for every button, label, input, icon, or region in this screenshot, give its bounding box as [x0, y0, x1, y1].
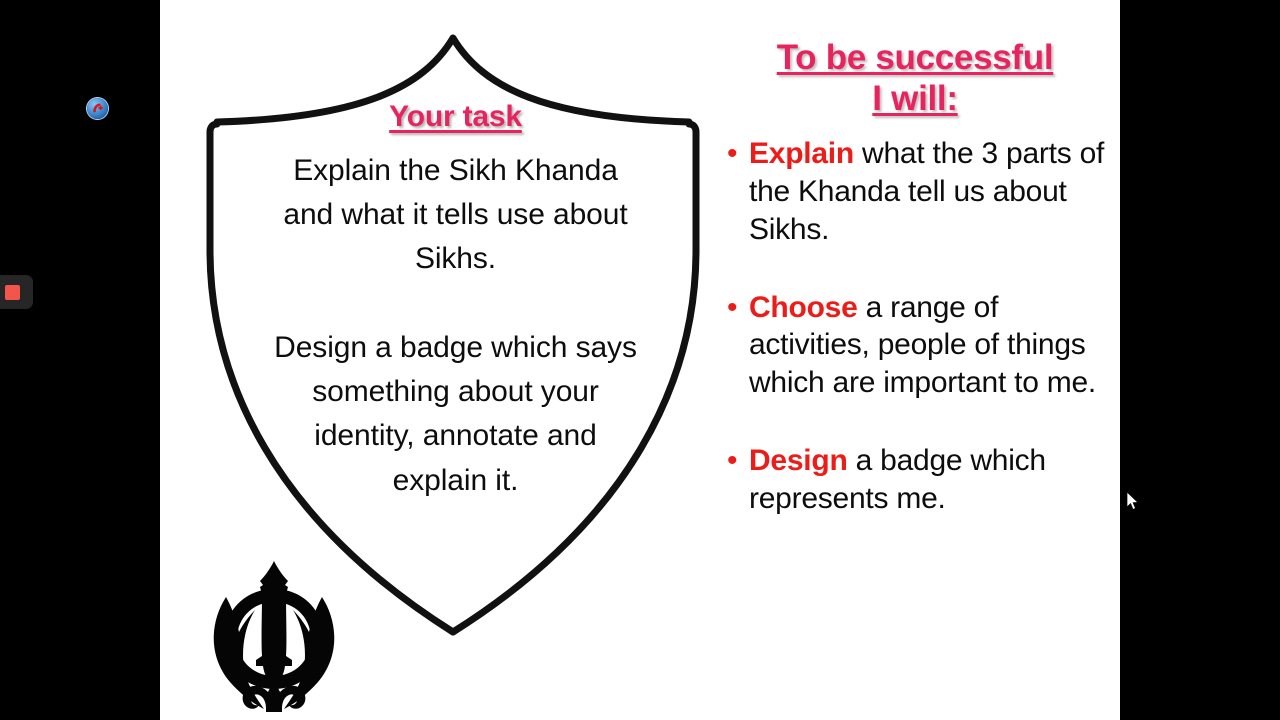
criteria-item-verb: Choose: [749, 291, 858, 324]
slide-canvas: Your task Explain the Sikh Khanda and wh…: [160, 0, 1120, 720]
shield-text-block: Your task Explain the Sikh Khanda and wh…: [268, 100, 643, 503]
criteria-item-verb: Explain: [749, 137, 854, 170]
success-criteria-panel: To be successful I will: • Explain what …: [725, 38, 1105, 518]
criteria-item-text: Design a badge which represents me.: [749, 442, 1105, 518]
criteria-item-text: Explain what the 3 parts of the Khanda t…: [749, 135, 1105, 248]
criteria-item-verb: Design: [749, 444, 848, 477]
criteria-title: To be successful I will:: [725, 38, 1105, 119]
stop-recording-icon: [5, 285, 20, 300]
criteria-item: • Choose a range of activities, people o…: [725, 289, 1105, 402]
criteria-item: • Design a badge which represents me.: [725, 442, 1105, 518]
khanda-sikh-symbol: [200, 556, 348, 716]
app-badge-glyph: [90, 101, 105, 116]
criteria-item: • Explain what the 3 parts of the Khanda…: [725, 135, 1105, 248]
presentation-screen: Your task Explain the Sikh Khanda and wh…: [0, 0, 1280, 720]
shield-paragraph-2: Design a badge which says something abou…: [268, 326, 643, 504]
shield-heading: Your task: [268, 100, 643, 135]
stop-recording-button[interactable]: [0, 275, 33, 309]
mouse-pointer-icon: [1126, 491, 1140, 511]
criteria-title-line-2: I will:: [725, 79, 1105, 120]
criteria-item-text: Choose a range of activities, people of …: [749, 289, 1105, 402]
adobe-flash-app-icon[interactable]: [87, 98, 108, 119]
criteria-title-line-1: To be successful: [725, 38, 1105, 79]
shield-paragraph-1: Explain the Sikh Khanda and what it tell…: [268, 149, 643, 282]
bullet-dot-icon: •: [725, 442, 749, 480]
bullet-dot-icon: •: [725, 289, 749, 327]
bullet-dot-icon: •: [725, 135, 749, 173]
